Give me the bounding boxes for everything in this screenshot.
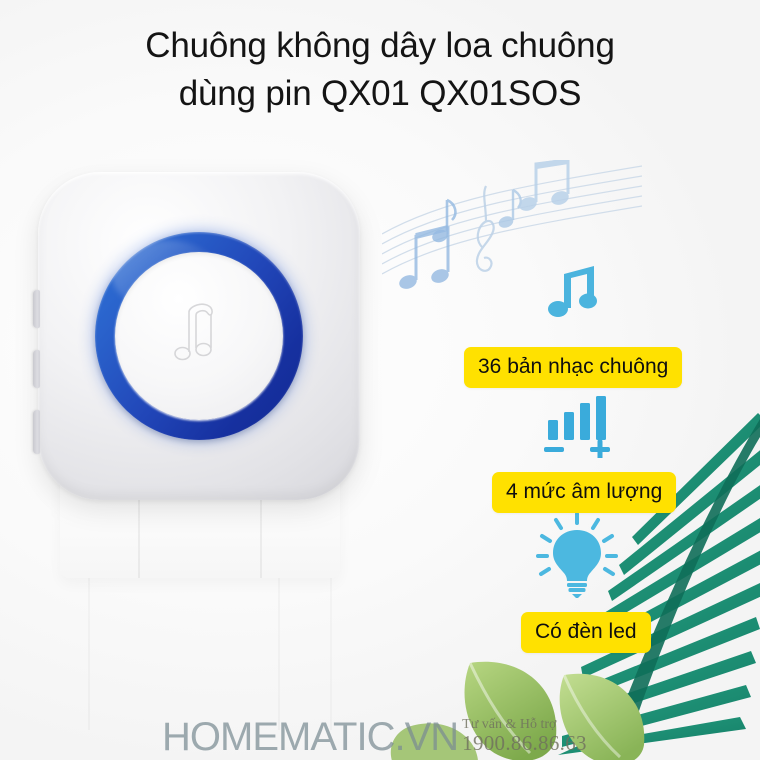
device-side-button-1[interactable] <box>33 290 40 328</box>
music-notes-icon <box>544 262 606 329</box>
watermark-brand: HOMEMATIC.VN <box>162 718 458 756</box>
watermark-phone: 1900.86.86.63 <box>462 733 587 754</box>
feature-badge-volume: 4 mức âm lượng <box>492 472 676 513</box>
doorbell-device <box>24 160 374 580</box>
device-side-button-2[interactable] <box>33 350 40 388</box>
device-side-button-3[interactable] <box>33 410 40 454</box>
page-title-line-2: dùng pin QX01 QX01SOS <box>0 70 760 118</box>
device-body <box>38 172 360 500</box>
doorbell-press-button[interactable] <box>115 252 283 420</box>
watermark: HOMEMATIC.VN Tư vấn & Hỗ trợ 1900.86.86.… <box>162 718 587 756</box>
feature-badge-led: Có đèn led <box>521 612 651 653</box>
volume-levels-icon <box>534 392 620 463</box>
feature-badge-ringtones: 36 bản nhạc chuông <box>464 347 682 388</box>
product-advertisement-image: Chuông không dây loa chuông dùng pin QX0… <box>0 0 760 760</box>
light-bulb-icon <box>536 512 618 603</box>
page-title-line-1: Chuông không dây loa chuông <box>0 22 760 70</box>
page-title: Chuông không dây loa chuông dùng pin QX0… <box>0 22 760 119</box>
watermark-contact: Tư vấn & Hỗ trợ 1900.86.86.63 <box>462 718 587 756</box>
music-note-icon <box>167 298 231 375</box>
